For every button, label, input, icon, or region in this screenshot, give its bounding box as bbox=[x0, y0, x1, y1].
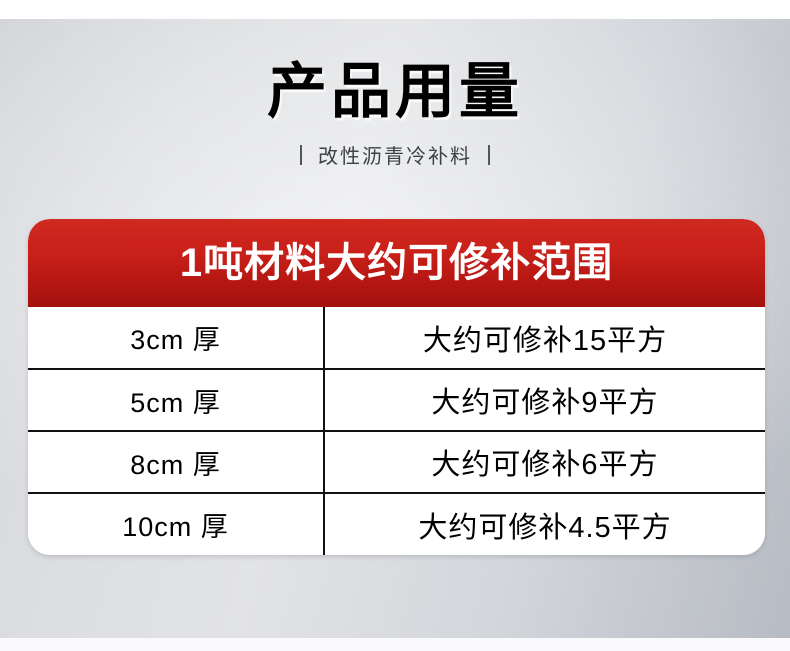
cell-thickness: 3cm 厚 bbox=[28, 307, 324, 369]
table-row: 10cm 厚 大约可修补4.5平方 bbox=[28, 493, 765, 555]
coverage-value: 大约可修补6平方 bbox=[431, 441, 658, 483]
coverage-card: 1吨材料大约可修补范围 3cm 厚 大约可修补15平方 5cm 厚 bbox=[28, 219, 765, 555]
card-header-title: 1吨材料大约可修补范围 bbox=[180, 243, 613, 283]
coverage-value: 大约可修补4.5平方 bbox=[418, 504, 671, 546]
divider-bar-right-icon bbox=[488, 145, 490, 165]
card-header-banner: 1吨材料大约可修补范围 bbox=[28, 219, 765, 307]
cell-thickness: 8cm 厚 bbox=[28, 431, 324, 493]
thickness-value: 3cm 厚 bbox=[130, 318, 221, 357]
subtitle-row: 改性沥青冷补料 bbox=[0, 140, 790, 169]
coverage-value: 大约可修补15平方 bbox=[423, 317, 667, 359]
cell-coverage: 大约可修补4.5平方 bbox=[324, 493, 765, 555]
thickness-value: 5cm 厚 bbox=[130, 381, 221, 420]
background-bottom-strip bbox=[0, 638, 790, 651]
cell-coverage: 大约可修补15平方 bbox=[324, 307, 765, 369]
cell-coverage: 大约可修补9平方 bbox=[324, 369, 765, 431]
cell-thickness: 5cm 厚 bbox=[28, 369, 324, 431]
coverage-value: 大约可修补9平方 bbox=[431, 379, 658, 421]
thickness-value: 10cm 厚 bbox=[122, 505, 229, 544]
page-subtitle: 改性沥青冷补料 bbox=[318, 140, 472, 169]
divider-bar-left-icon bbox=[300, 145, 302, 165]
table-row: 3cm 厚 大约可修补15平方 bbox=[28, 307, 765, 369]
table-row: 8cm 厚 大约可修补6平方 bbox=[28, 431, 765, 493]
thickness-value: 8cm 厚 bbox=[130, 443, 221, 482]
background-top-strip bbox=[0, 0, 790, 19]
table-row: 5cm 厚 大约可修补9平方 bbox=[28, 369, 765, 431]
cell-thickness: 10cm 厚 bbox=[28, 493, 324, 555]
page-title: 产品用量 bbox=[0, 62, 790, 122]
coverage-table: 3cm 厚 大约可修补15平方 5cm 厚 大约可修补9平方 bbox=[28, 307, 765, 555]
product-usage-infographic: 产品用量 改性沥青冷补料 1吨材料大约可修补范围 3cm 厚 大约可修补15平方 bbox=[0, 0, 790, 651]
coverage-table-body: 3cm 厚 大约可修补15平方 5cm 厚 大约可修补9平方 bbox=[28, 307, 765, 555]
cell-coverage: 大约可修补6平方 bbox=[324, 431, 765, 493]
header-block: 产品用量 改性沥青冷补料 bbox=[0, 62, 790, 169]
